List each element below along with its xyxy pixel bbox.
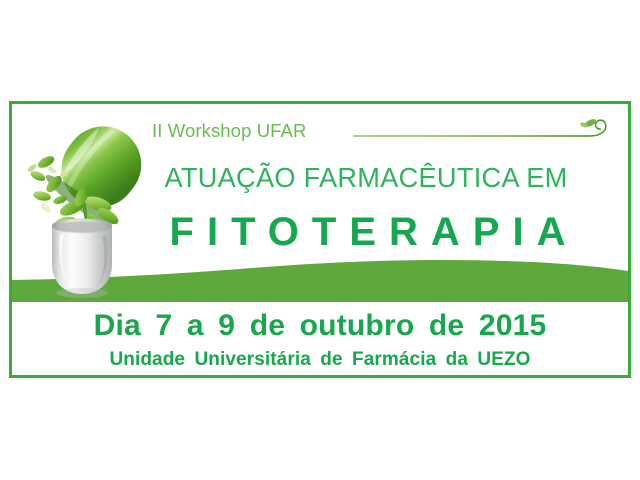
banner-stage: II Workshop UFAR xyxy=(12,104,628,375)
event-date: Dia 7 a 9 de outubro de 2015 xyxy=(12,309,628,343)
open-capsule-with-leaves-icon xyxy=(16,104,166,304)
sprout-leaf-icon xyxy=(350,118,618,148)
poster-canvas: II Workshop UFAR xyxy=(0,0,640,480)
event-banner: II Workshop UFAR xyxy=(9,101,631,378)
title-line-atuacao: ATUAÇÃO FARMACÊUTICA EM xyxy=(139,162,593,194)
event-venue: Unidade Universitária de Farmácia da UEZ… xyxy=(12,349,628,371)
event-details-block: Dia 7 a 9 de outubro de 2015 Unidade Uni… xyxy=(12,309,628,371)
workshop-kicker: II Workshop UFAR xyxy=(152,120,306,142)
title-line-fitoterapia: FITOTERAPIA xyxy=(132,210,616,255)
kicker-row: II Workshop UFAR xyxy=(152,118,618,144)
